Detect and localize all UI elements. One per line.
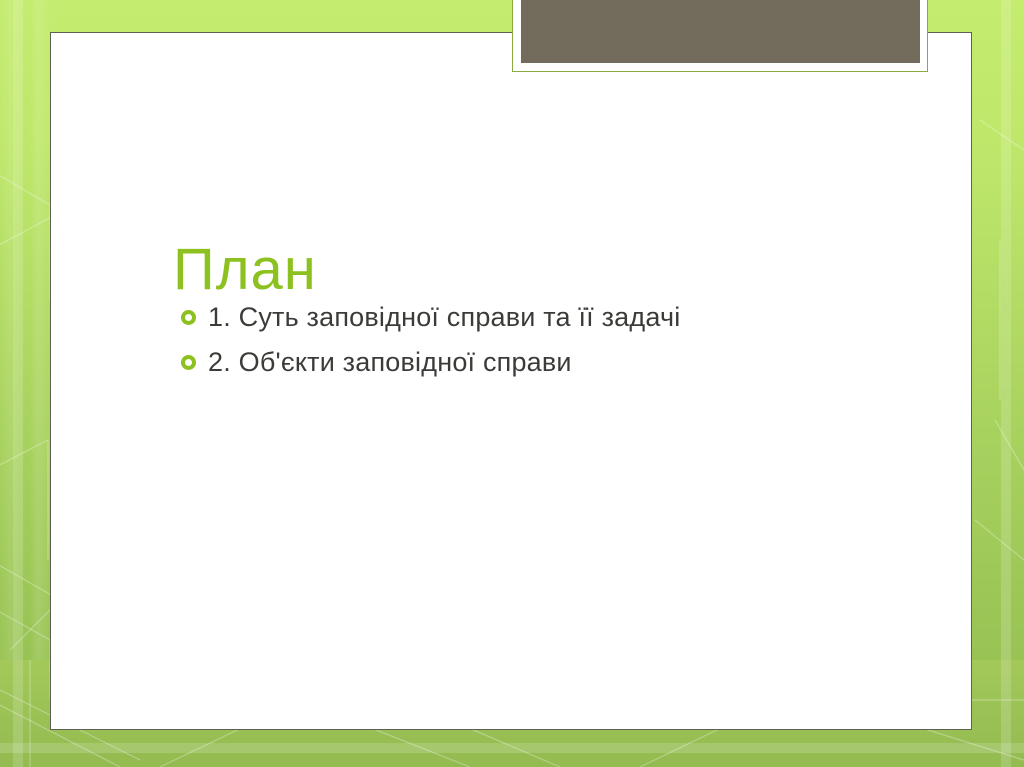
- list-item-label: 1. Суть заповідної справи та її задачі: [208, 299, 971, 336]
- header-accent-banner-fill: [521, 0, 920, 63]
- list-item: 2. Об'єкти заповідної справи: [181, 344, 971, 381]
- bullet-list: 1. Суть заповідної справи та її задачі 2…: [181, 299, 971, 390]
- header-accent-banner: [512, 0, 928, 72]
- presentation-slide: План 1. Суть заповідної справи та її зад…: [0, 0, 1024, 767]
- slide-content-panel: План 1. Суть заповідної справи та її зад…: [50, 32, 972, 730]
- page-title: План: [173, 240, 933, 301]
- ring-bullet-icon: [181, 355, 196, 370]
- list-item-label: 2. Об'єкти заповідної справи: [208, 344, 971, 381]
- list-item: 1. Суть заповідної справи та її задачі: [181, 299, 971, 336]
- ring-bullet-icon: [181, 310, 196, 325]
